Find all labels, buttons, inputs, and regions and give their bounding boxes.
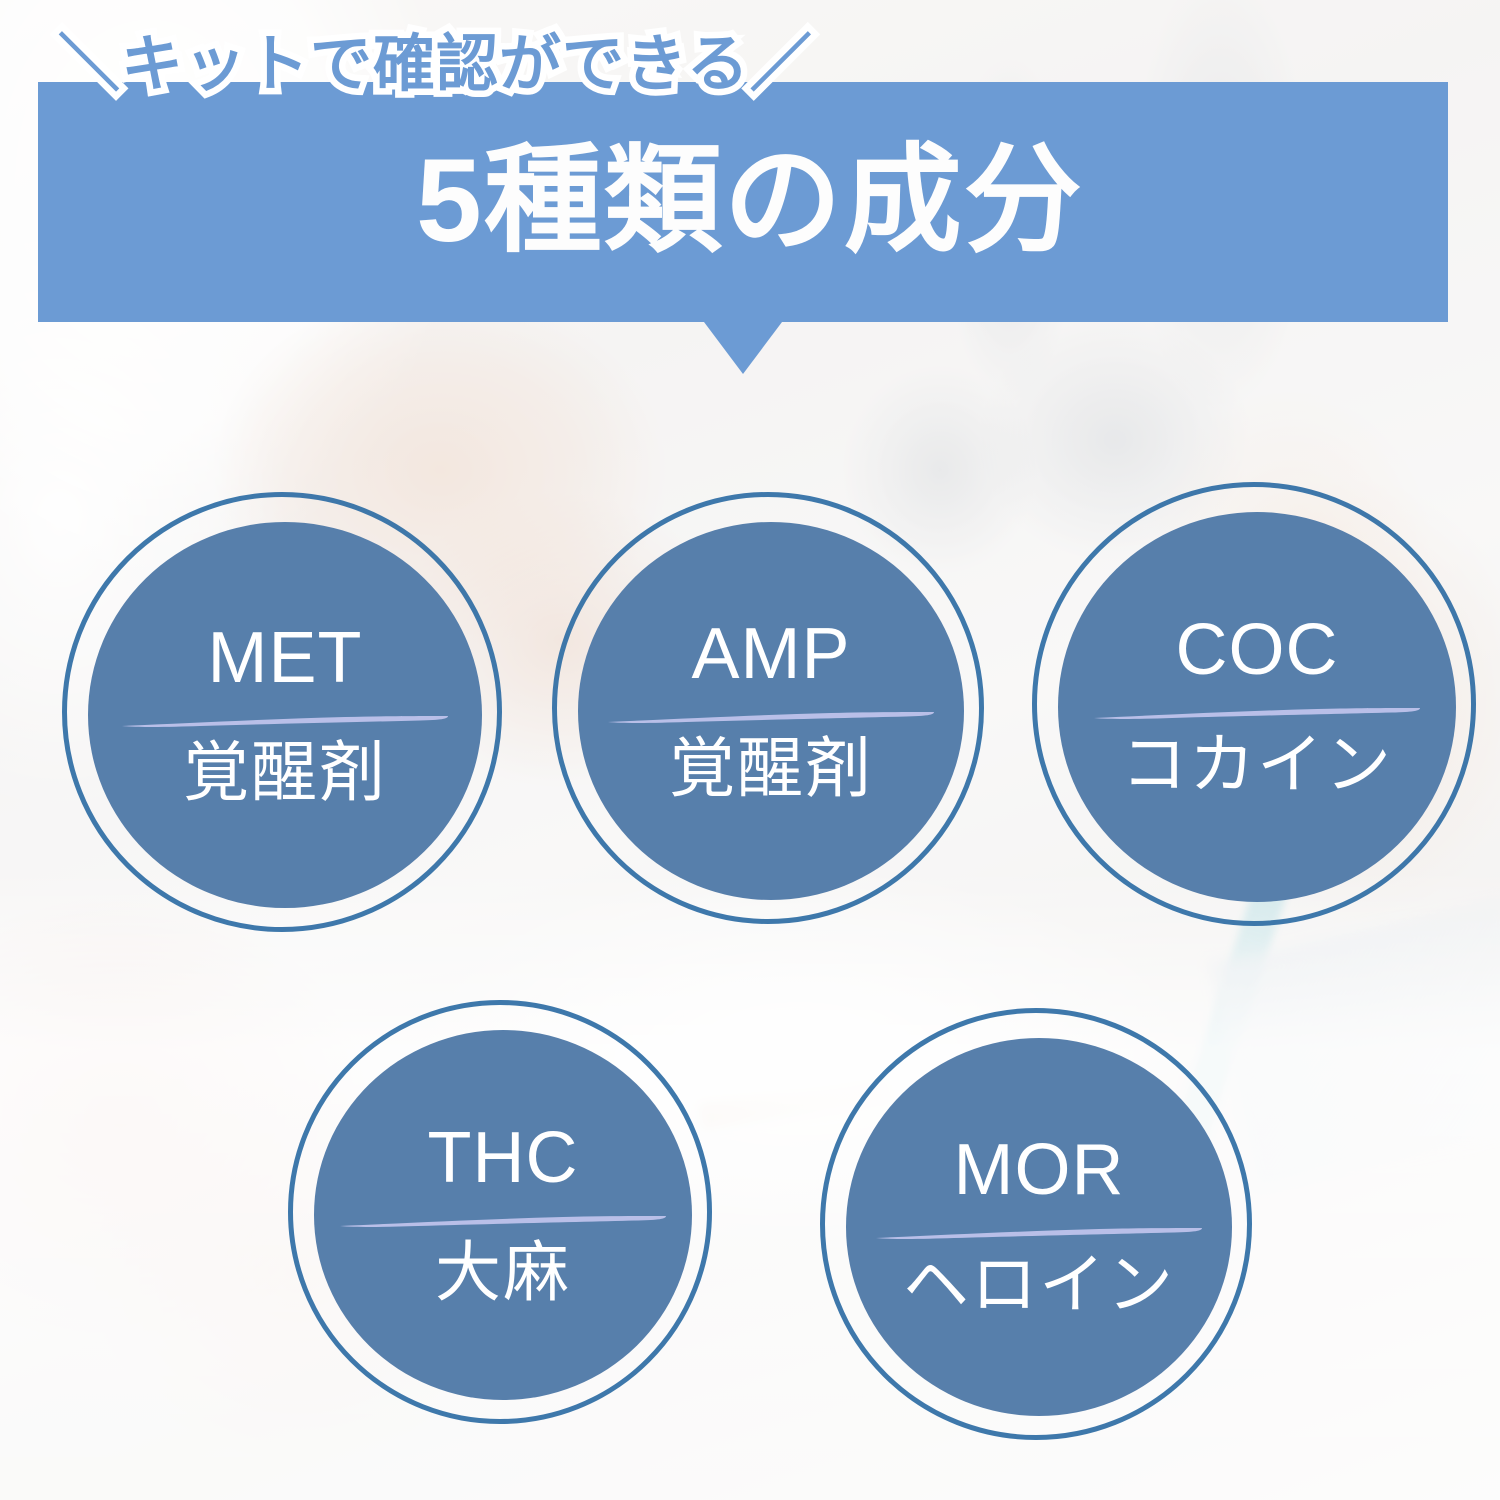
circle-content: COC コカイン <box>1058 512 1456 902</box>
brush-stroke-divider <box>606 708 936 724</box>
circle-content: AMP 覚醒剤 <box>578 522 964 900</box>
substance-circle-thc[interactable]: THC 大麻 <box>288 1000 712 1424</box>
brush-stroke-divider <box>338 1212 668 1228</box>
banner-kicker: ＼キットで確認ができる／ <box>58 34 813 96</box>
circle-content: THC 大麻 <box>314 1030 692 1400</box>
substance-code: COC <box>1176 614 1339 686</box>
substance-circle-amp[interactable]: AMP 覚醒剤 <box>552 492 984 924</box>
infographic-canvas: ＼キットで確認ができる／ 5種類の成分 MET 覚醒剤 AMP 覚醒剤 <box>0 0 1500 1500</box>
page-title: 5種類の成分 <box>0 142 1500 260</box>
brush-stroke-divider <box>874 1224 1204 1240</box>
substance-name: ヘロイン <box>903 1250 1175 1319</box>
substance-name: コカイン <box>1121 730 1393 799</box>
substance-circle-mor[interactable]: MOR ヘロイン <box>820 1008 1252 1440</box>
substance-name: 大麻 <box>435 1238 571 1307</box>
substance-circle-met[interactable]: MET 覚醒剤 <box>62 492 502 932</box>
circle-content: MOR ヘロイン <box>846 1038 1232 1416</box>
triangle-down-icon <box>704 322 782 374</box>
brush-stroke-divider <box>120 712 450 728</box>
substance-code: THC <box>428 1122 579 1194</box>
substance-code: AMP <box>691 618 850 690</box>
circle-content: MET 覚醒剤 <box>88 522 482 908</box>
substance-name: 覚醒剤 <box>183 738 387 807</box>
substance-circle-coc[interactable]: COC コカイン <box>1032 482 1476 926</box>
brush-stroke-divider <box>1092 704 1422 720</box>
substance-name: 覚醒剤 <box>669 734 873 803</box>
substance-code: MOR <box>954 1134 1125 1206</box>
substance-code: MET <box>208 622 363 694</box>
